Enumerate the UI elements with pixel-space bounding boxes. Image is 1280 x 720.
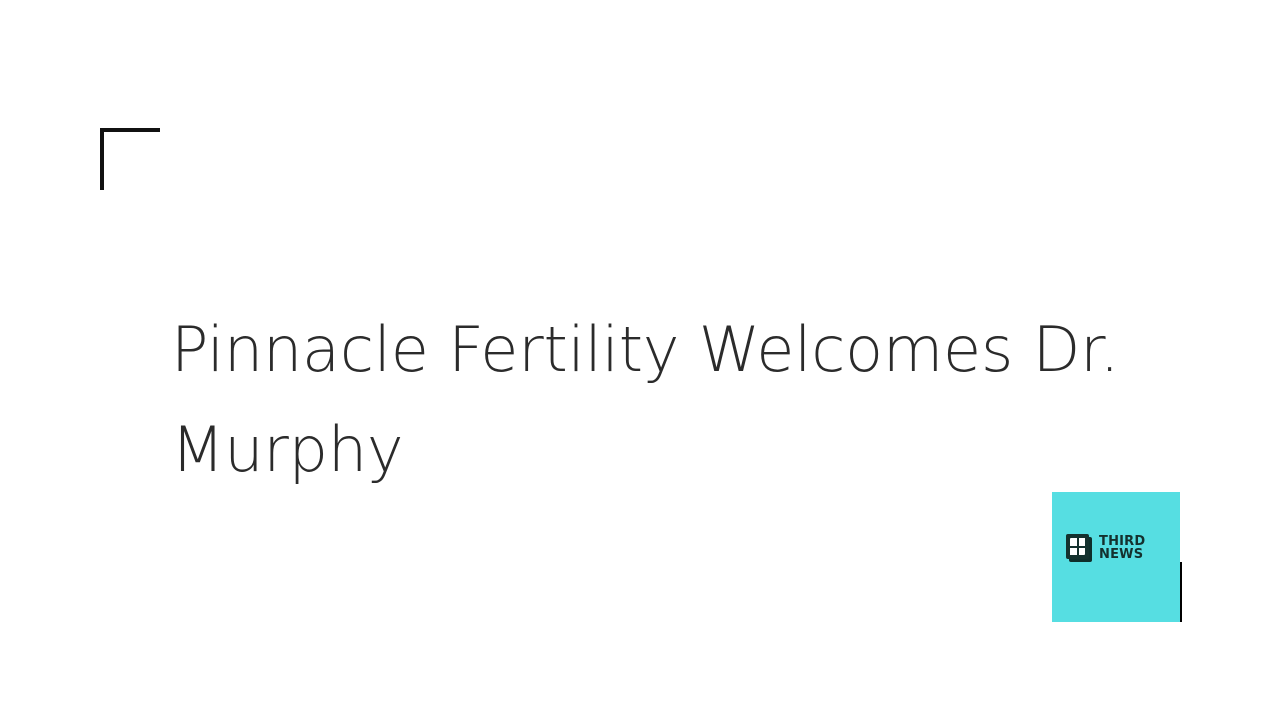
presentation-slide: Pinnacle Fertility Welcomes Dr. Murphy [0, 0, 1280, 720]
logo-wordmark: THIRD NEWS [1099, 535, 1145, 562]
title-line-2: Murphy [171, 400, 1001, 500]
corner-bracket-decoration [100, 128, 160, 190]
title-line-1: Pinnacle Fertility Welcomes Dr. [171, 300, 1001, 400]
logo-content: THIRD NEWS [1066, 534, 1145, 562]
logo-word-line-2: NEWS [1099, 548, 1145, 561]
brand-logo-badge: THIRD NEWS [1052, 492, 1180, 622]
page-title: Pinnacle Fertility Welcomes Dr. Murphy [171, 300, 1001, 500]
window-panes-icon [1066, 534, 1092, 562]
logo-word-line-1: THIRD [1099, 535, 1145, 548]
logo-background-square: THIRD NEWS [1052, 492, 1180, 622]
